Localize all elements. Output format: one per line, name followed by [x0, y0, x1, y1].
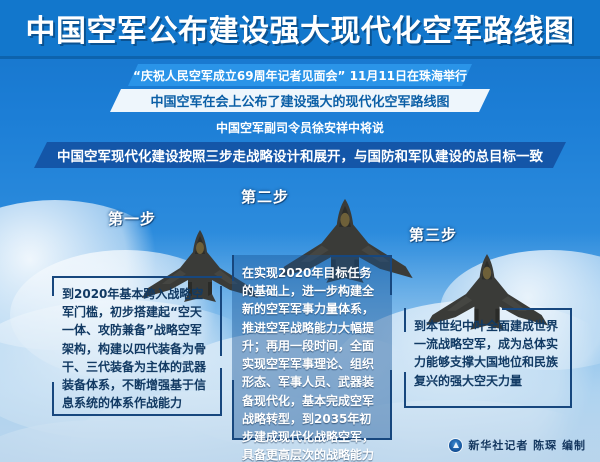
step-label-3: 第三步 [409, 224, 457, 245]
subtitle-banner-1-text: “庆祝人民空军成立69周年记者见面会” 11月11日在珠海举行 [133, 67, 467, 84]
subtitle-banner-3: 中国空军副司令员徐安祥中将说 [160, 116, 440, 138]
infographic-poster: 中国空军公布建设强大现代化空军路线图 “庆祝人民空军成立69周年记者见面会” 1… [0, 0, 600, 462]
step-1-textbox: 到2020年基本跨入战略空军门槛，初步搭建起“空天一体、攻防兼备”战略空军架构，… [52, 276, 222, 416]
subtitle-banner-1: “庆祝人民空军成立69周年记者见面会” 11月11日在珠海举行 [128, 64, 472, 86]
poster-header: 中国空军公布建设强大现代化空军路线图 [0, 0, 600, 56]
subtitle-banner-4-text: 中国空军现代化建设按照三步走战略设计和展开，与国防和军队建设的总目标一致 [57, 145, 543, 165]
box-border-bottom [404, 406, 572, 408]
subtitle-banner-4: 中国空军现代化建设按照三步走战略设计和展开，与国防和军队建设的总目标一致 [34, 142, 566, 168]
header-divider [0, 56, 600, 59]
credit-text: 新华社记者 陈琛 编制 [468, 437, 586, 453]
step-label-1: 第一步 [108, 208, 156, 229]
step-1-text: 到2020年基本跨入战略空军门槛，初步搭建起“空天一体、攻防兼备”战略空军架构，… [52, 276, 222, 423]
page-title: 中国空军公布建设强大现代化空军路线图 [26, 6, 575, 50]
step-label-2: 第二步 [241, 186, 289, 207]
step-2-textbox: 在实现2020年目标任务的基础上，进一步构建全新的空军军事力量体系，推进空军战略… [232, 255, 392, 440]
xinhua-logo-icon [449, 439, 462, 452]
step-2-text: 在实现2020年目标任务的基础上，进一步构建全新的空军军事力量体系，推进空军战略… [232, 255, 392, 462]
subtitle-banner-2-text: 中国空军在会上公布了建设强大的现代化空军路线图 [150, 91, 449, 110]
step-3-text: 到本世纪中叶全面建成世界一流战略空军，成为总体实力能够支撑大国地位和民族复兴的强… [404, 308, 572, 400]
credit-line: 新华社记者 陈琛 编制 [449, 437, 586, 453]
subtitle-banner-3-text: 中国空军副司令员徐安祥中将说 [216, 119, 384, 136]
step-3-textbox: 到本世纪中叶全面建成世界一流战略空军，成为总体实力能够支撑大国地位和民族复兴的强… [404, 308, 572, 408]
subtitle-banner-2: 中国空军在会上公布了建设强大的现代化空军路线图 [110, 89, 490, 112]
